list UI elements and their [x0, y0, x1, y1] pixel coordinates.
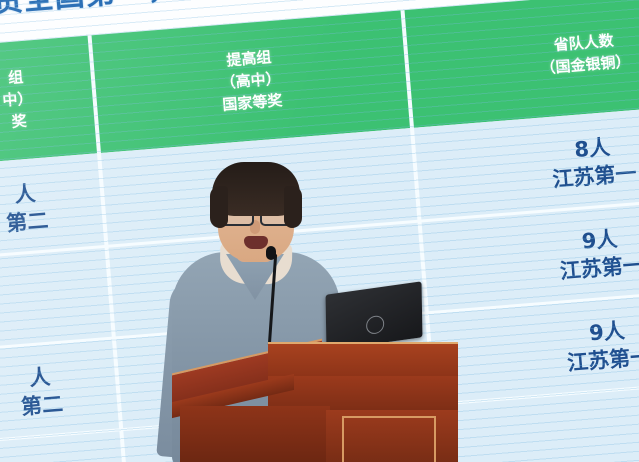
- speaker-hair-right-side: [284, 186, 302, 228]
- microphone-icon: [266, 246, 276, 260]
- cell-r2c3-line2: 江苏第一: [559, 251, 639, 286]
- header-cell-3-line2: （国金银铜）: [540, 51, 631, 80]
- screenshot-stage: 责全国第一，为国家科技发展输送精英 组 中） 奖 提高组 （高中） 国家等奖 省…: [0, 0, 639, 462]
- cell-r3c3-line1: 9人: [588, 316, 626, 347]
- header-cell-2-line3: 国家等奖: [222, 90, 284, 116]
- podium: [172, 336, 458, 462]
- cell-r1c3-line2: 江苏第一: [551, 159, 637, 194]
- table-row: 人 第二: [0, 343, 119, 441]
- podium-base-left: [180, 406, 330, 462]
- cell-r2c3-line1: 9人: [581, 225, 619, 256]
- header-cell-3: 省队人数 （国金银铜）: [405, 0, 639, 128]
- header-cell-1-line2: 中）: [2, 88, 34, 112]
- cell-r1c3-line1: 8人: [573, 133, 611, 164]
- cell-r1c1-line2: 第二: [5, 206, 49, 238]
- laptop-brand-logo-icon: [366, 315, 384, 335]
- cell-r3c1-line2: 第二: [20, 390, 64, 422]
- header-cell-1-line3: 奖: [11, 111, 28, 134]
- header-cell-1: 组 中） 奖: [0, 36, 97, 166]
- speaker-hair-left-side: [210, 186, 228, 228]
- cell-r3c1-line1: 人: [28, 362, 51, 392]
- cell-r1c1-line1: 人: [13, 179, 36, 209]
- podium-front-panel-upper: [268, 342, 458, 380]
- cell-r3c3-line2: 江苏第一: [566, 343, 639, 378]
- table-row: 人 第二: [0, 159, 104, 257]
- podium-inlay-trim: [342, 416, 436, 462]
- speaker-mouth: [244, 236, 268, 249]
- header-cell-1-line1: 组: [7, 67, 24, 90]
